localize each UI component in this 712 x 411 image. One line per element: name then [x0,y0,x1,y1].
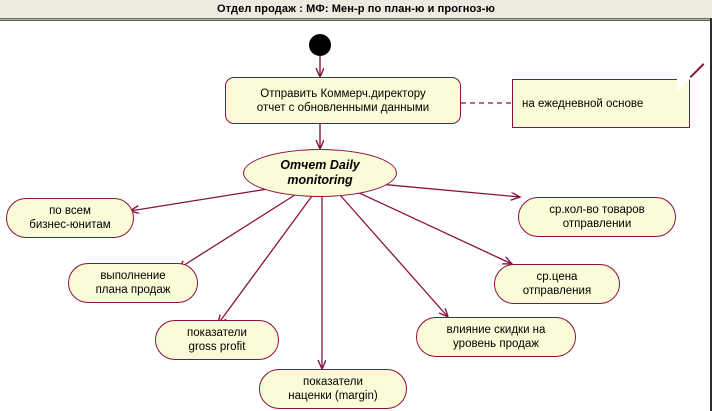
note-daily-basis[interactable]: на ежедневной основе [512,79,690,128]
note-fold-line-icon [690,63,705,78]
note-label: на ежедневной основе [522,97,643,111]
window-title: Отдел продаж : МФ: Мен-р по план-ю и про… [217,3,495,15]
output-node-avg-price[interactable]: ср.цена отправления [494,264,620,304]
note-fold-icon [677,79,690,92]
output-node-avg-goods-count[interactable]: ср.кол-во товаров отправлении [518,197,676,237]
edge-report-to-output-2 [218,196,312,324]
edge-report-to-output-1 [178,193,298,269]
output-node-label: выполнение плана продаж [96,269,171,297]
edge-report-to-output-5 [355,191,512,264]
output-node-business-units[interactable]: по всем бизнес-юнитам [6,198,134,238]
diagram-canvas: Отправить Коммерч.директору отчет с обно… [0,21,710,411]
report-node-label: Отчет Daily monitoring [280,158,360,188]
output-node-gross-profit[interactable]: показатели gross profit [155,320,279,360]
output-node-label: по всем бизнес-юнитам [29,204,110,232]
action-node-send-report[interactable]: Отправить Коммерч.директору отчет с обно… [225,77,461,124]
output-node-discount-impact[interactable]: влияние скидки на уровень продаж [416,317,576,357]
edge-report-to-output-0 [130,187,280,211]
diagram-window: Отдел продаж : МФ: Мен-р по план-ю и про… [0,0,712,411]
output-node-label: ср.кол-во товаров отправлении [549,203,645,231]
edge-report-to-output-4 [340,195,448,317]
output-node-label: ср.цена отправления [523,270,591,298]
output-node-label: влияние скидки на уровень продаж [447,323,546,351]
output-node-sales-plan[interactable]: выполнение плана продаж [68,263,198,303]
output-node-label: показатели наценки (margin) [288,375,377,403]
window-title-bar: Отдел продаж : МФ: Мен-р по план-ю и про… [0,0,712,18]
edge-report-to-output-6 [368,183,520,197]
action-node-label: Отправить Коммерч.директору отчет с обно… [257,87,429,115]
report-node-daily-monitoring[interactable]: Отчет Daily monitoring [243,149,397,197]
initial-state-node[interactable] [309,34,331,56]
output-node-label: показатели gross profit [187,326,247,354]
output-node-margin[interactable]: показатели наценки (margin) [259,369,407,409]
